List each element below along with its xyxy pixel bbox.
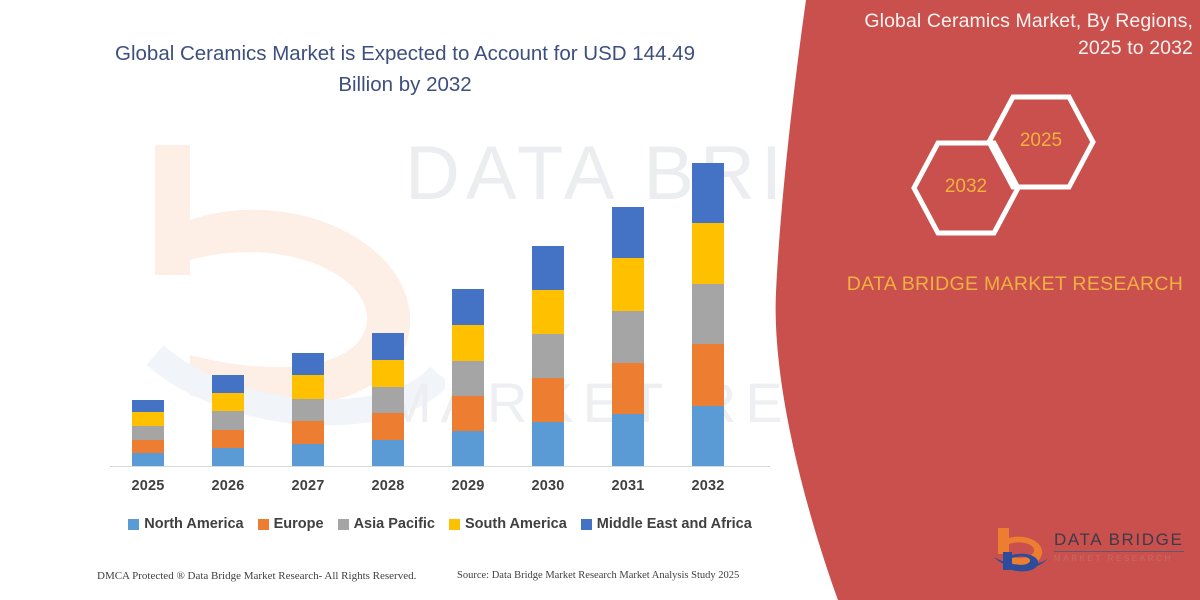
- x-axis-label-2028: 2028: [358, 478, 418, 494]
- legend-item-north-america[interactable]: North America: [128, 516, 243, 532]
- right-panel: Global Ceramics Market, By Regions, 2025…: [830, 0, 1200, 600]
- bar-segment-middle-east-and-africa-2026: [212, 375, 244, 393]
- legend-swatch-icon: [581, 519, 592, 530]
- infographic-canvas: DATA BRIDGE MARKET RESEARCH Global Ceram…: [0, 0, 1200, 600]
- legend-label: Asia Pacific: [354, 516, 435, 532]
- dbmr-logo: DATA BRIDGE MARKET RESEARCH: [990, 522, 1190, 580]
- bar-segment-north-america-2028: [372, 440, 404, 466]
- x-axis-label-2025: 2025: [118, 478, 178, 494]
- legend-swatch-icon: [449, 519, 460, 530]
- x-axis-label-2027: 2027: [278, 478, 338, 494]
- x-axis-line: [110, 466, 770, 467]
- bar-2029: [452, 289, 484, 466]
- bar-segment-north-america-2031: [612, 414, 644, 466]
- hexagon-badge-2025: 2025: [985, 92, 1097, 192]
- bar-segment-north-america-2025: [132, 453, 164, 466]
- bar-segment-asia-pacific-2031: [612, 311, 644, 363]
- bar-2025: [132, 400, 164, 466]
- bar-segment-south-america-2031: [612, 258, 644, 311]
- bar-2030: [532, 246, 564, 466]
- bar-segment-asia-pacific-2026: [212, 411, 244, 430]
- bar-segment-middle-east-and-africa-2025: [132, 400, 164, 413]
- bar-segment-europe-2030: [532, 378, 564, 422]
- bar-segment-north-america-2027: [292, 444, 324, 466]
- hexagon-badges: 2032 2025: [910, 108, 1120, 218]
- bar-segment-middle-east-and-africa-2031: [612, 207, 644, 259]
- bar-2032: [692, 163, 724, 466]
- bar-2031: [612, 207, 644, 467]
- panel-brand-name: DATA BRIDGE MARKET RESEARCH: [840, 270, 1190, 299]
- bar-segment-europe-2026: [212, 430, 244, 449]
- bar-segment-north-america-2029: [452, 431, 484, 466]
- bar-segment-south-america-2027: [292, 375, 324, 398]
- x-axis-label-2031: 2031: [598, 478, 658, 494]
- bar-segment-europe-2031: [612, 363, 644, 415]
- bar-segment-south-america-2028: [372, 360, 404, 387]
- legend-swatch-icon: [338, 519, 349, 530]
- legend-label: North America: [144, 516, 243, 532]
- legend-item-south-america[interactable]: South America: [449, 516, 567, 532]
- bar-segment-asia-pacific-2029: [452, 361, 484, 396]
- panel-title: Global Ceramics Market, By Regions, 2025…: [835, 8, 1193, 62]
- bar-segment-north-america-2032: [692, 406, 724, 466]
- legend-label: Europe: [274, 516, 324, 532]
- bar-segment-south-america-2032: [692, 223, 724, 283]
- x-axis-label-2026: 2026: [198, 478, 258, 494]
- legend-label: South America: [465, 516, 567, 532]
- x-axis-labels: 20252026202720282029203020312032: [110, 478, 770, 500]
- legend-item-europe[interactable]: Europe: [258, 516, 324, 532]
- dbmr-logo-divider: [1054, 551, 1184, 552]
- x-axis-label-2030: 2030: [518, 478, 578, 494]
- bar-segment-middle-east-and-africa-2028: [372, 333, 404, 359]
- bar-segment-middle-east-and-africa-2032: [692, 163, 724, 223]
- bar-segment-asia-pacific-2025: [132, 426, 164, 440]
- dbmr-logo-text: DATA BRIDGE MARKET RESEARCH: [1054, 530, 1186, 564]
- bar-segment-south-america-2030: [532, 290, 564, 334]
- bar-2028: [372, 333, 404, 466]
- dbmr-logo-mark-icon: [990, 524, 1052, 576]
- legend-swatch-icon: [128, 519, 139, 530]
- bar-segment-asia-pacific-2032: [692, 284, 724, 344]
- bar-2027: [292, 353, 324, 466]
- chart-legend: North AmericaEuropeAsia PacificSouth Ame…: [110, 512, 770, 536]
- hexagon-label-2025: 2025: [985, 130, 1097, 152]
- bar-segment-europe-2032: [692, 344, 724, 405]
- bar-2026: [212, 375, 244, 466]
- x-axis-label-2032: 2032: [678, 478, 738, 494]
- bar-segment-europe-2027: [292, 421, 324, 443]
- footer-source: Source: Data Bridge Market Research Mark…: [457, 570, 739, 581]
- bar-segment-middle-east-and-africa-2027: [292, 353, 324, 375]
- dbmr-logo-sub-text: MARKET RESEARCH: [1054, 553, 1186, 564]
- bar-segment-south-america-2026: [212, 393, 244, 412]
- x-axis-label-2029: 2029: [438, 478, 498, 494]
- footer-bar: DMCA Protected ® Data Bridge Market Rese…: [0, 566, 800, 592]
- bar-segment-asia-pacific-2030: [532, 334, 564, 378]
- bar-segment-europe-2028: [372, 413, 404, 439]
- bar-segment-south-america-2025: [132, 412, 164, 426]
- bar-segment-europe-2025: [132, 440, 164, 454]
- bar-segment-middle-east-and-africa-2030: [532, 246, 564, 290]
- bar-segment-europe-2029: [452, 396, 484, 431]
- bar-segment-south-america-2029: [452, 325, 484, 361]
- bar-segment-middle-east-and-africa-2029: [452, 289, 484, 324]
- dbmr-logo-main-text: DATA BRIDGE: [1054, 530, 1186, 550]
- bar-segment-asia-pacific-2028: [372, 387, 404, 413]
- chart-title: Global Ceramics Market is Expected to Ac…: [95, 38, 715, 100]
- legend-item-middle-east-and-africa[interactable]: Middle East and Africa: [581, 516, 752, 532]
- bar-segment-north-america-2030: [532, 422, 564, 466]
- bar-segment-asia-pacific-2027: [292, 399, 324, 421]
- legend-swatch-icon: [258, 519, 269, 530]
- footer-copyright: DMCA Protected ® Data Bridge Market Rese…: [97, 570, 416, 582]
- stacked-bar-plot: [110, 140, 770, 470]
- legend-label: Middle East and Africa: [597, 516, 752, 532]
- bar-segment-north-america-2026: [212, 448, 244, 466]
- legend-item-asia-pacific[interactable]: Asia Pacific: [338, 516, 435, 532]
- chart-region: Global Ceramics Market is Expected to Ac…: [0, 0, 800, 600]
